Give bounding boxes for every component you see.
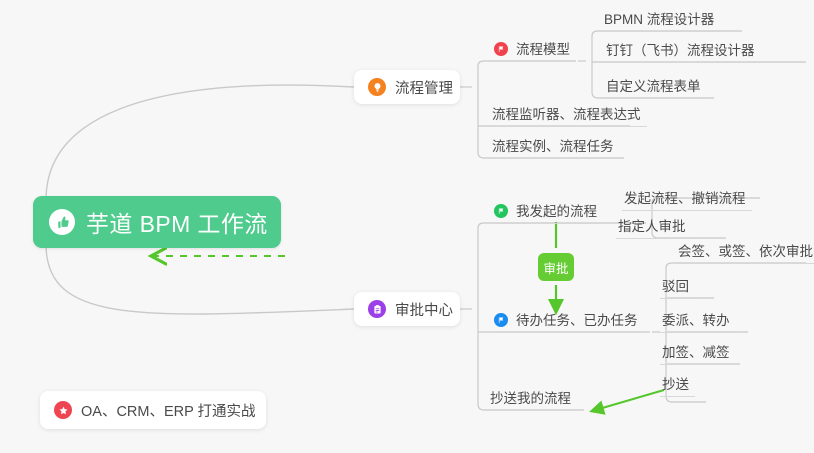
root-node[interactable]: 芋道 BPM 工作流 [33,196,281,248]
approval-flow-tag: 审批 [538,253,574,281]
approval-flow-tag-label: 审批 [543,258,568,277]
topic-label: 驳回 [662,278,689,296]
topic-label: 我发起的流程 [516,203,597,221]
topic-carbon-copy[interactable]: 抄送 [660,371,695,397]
topic-bpmn-designer[interactable]: BPMN 流程设计器 [602,6,720,32]
flag-green-icon [494,204,508,218]
card-integration-practice[interactable]: OA、CRM、ERP 打通实战 [40,391,266,429]
topic-label: 自定义流程表单 [606,78,701,96]
branch-label: 流程管理 [395,77,453,98]
topic-label: 流程模型 [516,41,570,59]
topic-label: BPMN 流程设计器 [604,11,714,29]
topic-label: 抄送我的流程 [490,390,571,408]
topic-process-model[interactable]: 流程模型 [492,36,576,62]
topic-label: 流程实例、流程任务 [492,138,614,156]
branch-label: 审批中心 [395,299,453,320]
thumbs-up-icon [49,209,75,235]
lightbulb-icon [368,78,386,96]
star-icon [54,401,72,419]
card-integration-label: OA、CRM、ERP 打通实战 [81,400,256,421]
topic-dingtalk-designer[interactable]: 钉钉（飞书）流程设计器 [604,37,761,63]
flag-red-icon [494,42,508,56]
topic-label: 待办任务、已办任务 [516,312,638,330]
topic-cc-to-me[interactable]: 抄送我的流程 [488,385,577,411]
topic-label: 抄送 [662,376,689,394]
topic-reject[interactable]: 驳回 [660,273,695,299]
topic-start-cancel-process[interactable]: 发起流程、撤销流程 [622,185,752,211]
flag-blue-icon [494,313,508,327]
topic-label: 加签、减签 [662,344,730,362]
root-label: 芋道 BPM 工作流 [86,205,268,239]
topic-todo-done-tasks[interactable]: 待办任务、已办任务 [492,307,644,333]
clipboard-icon [368,300,386,318]
topic-label: 流程监听器、流程表达式 [492,106,641,124]
topic-process-instance[interactable]: 流程实例、流程任务 [490,133,620,159]
topic-assigned-approval[interactable]: 指定人审批 [616,213,692,239]
topic-label: 钉钉（飞书）流程设计器 [606,42,755,60]
branch-approval-center[interactable]: 审批中心 [354,292,460,326]
topic-my-initiated-process[interactable]: 我发起的流程 [492,198,603,224]
topic-label: 会签、或签、依次审批 [678,243,813,261]
topic-add-remove-sign[interactable]: 加签、减签 [660,339,736,365]
topic-label: 发起流程、撤销流程 [624,190,746,208]
topic-delegate-transfer[interactable]: 委派、转办 [660,307,736,333]
branch-process-management[interactable]: 流程管理 [354,70,460,104]
topic-countersign[interactable]: 会签、或签、依次审批 [676,238,814,264]
topic-custom-form[interactable]: 自定义流程表单 [604,73,707,99]
topic-label: 指定人审批 [618,218,686,236]
mindmap-canvas: 芋道 BPM 工作流 流程管理 审批中心 [0,0,814,453]
topic-process-listener[interactable]: 流程监听器、流程表达式 [490,101,647,127]
topic-label: 委派、转办 [662,312,730,330]
